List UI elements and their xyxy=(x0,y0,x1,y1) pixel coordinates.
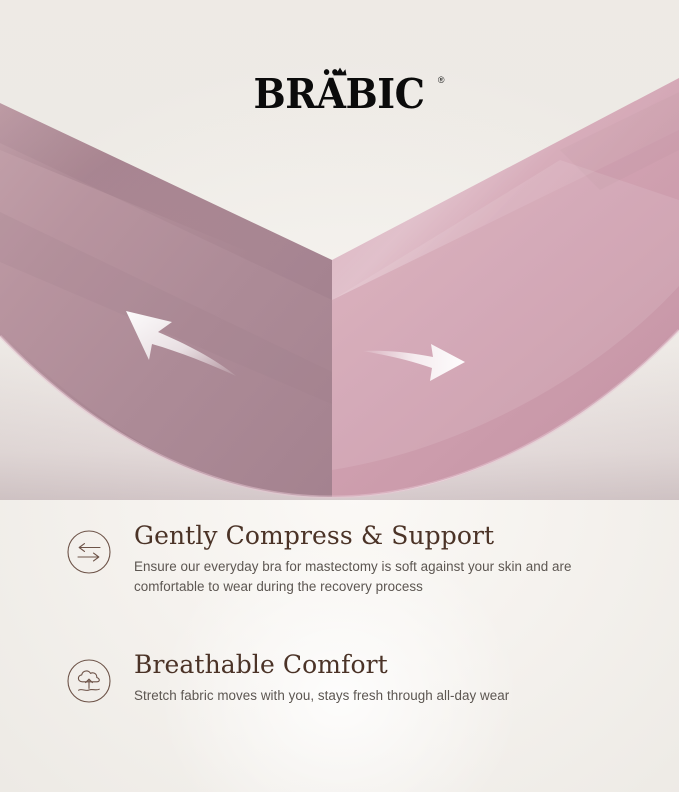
feature-item: Gently Compress & Support Ensure our eve… xyxy=(0,521,679,598)
registered-trademark-symbol: ® xyxy=(438,76,445,85)
brand-logo-text: BRÄBIC xyxy=(254,74,425,115)
feature-item: Breathable Comfort Stretch fabric moves … xyxy=(0,650,679,706)
feature-description: Ensure our everyday bra for mastectomy i… xyxy=(134,557,604,599)
breathable-cloud-icon xyxy=(66,658,112,704)
product-feature-page: BRÄBIC ® Gently C xyxy=(0,0,679,792)
feature-title: Breathable Comfort xyxy=(134,650,633,680)
brand-logo: BRÄBIC ® xyxy=(0,66,679,122)
compression-arrows-icon xyxy=(66,529,112,575)
feature-title: Gently Compress & Support xyxy=(134,521,633,551)
feature-list: Gently Compress & Support Ensure our eve… xyxy=(0,521,679,706)
feature-description: Stretch fabric moves with you, stays fre… xyxy=(134,686,604,707)
